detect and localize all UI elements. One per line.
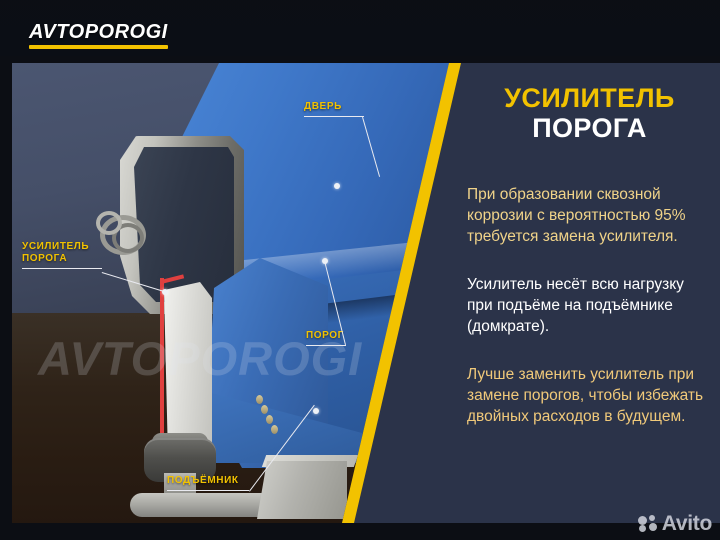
callout-reinforcement-label-line2: ПОРОГА — [22, 253, 102, 265]
sill-reinforcement-part — [164, 282, 212, 457]
content-panel: AVTOPOROGI ДВЕРЬ УСИЛИТЕЛЬ ПОРОГА ПОРОГ … — [12, 63, 720, 523]
avito-wordmark: Avito — [662, 513, 712, 534]
callout-door-rule — [304, 116, 364, 117]
callout-sill: ПОРОГ — [306, 330, 346, 346]
paragraph-advice: Лучше заменить усилитель при замене поро… — [467, 364, 712, 427]
avito-watermark: Avito — [638, 513, 712, 534]
callout-lift: ПОДЪЁМНИК — [167, 475, 249, 491]
weld-dot — [256, 395, 263, 404]
callout-lift-point — [313, 408, 319, 414]
page-title: УСИЛИТЕЛЬ ПОРОГА — [467, 83, 712, 143]
paragraph-load: Усилитель несёт всю нагрузку при подъёме… — [467, 274, 712, 337]
paragraph-corrosion: При образовании сквозной коррозии с веро… — [467, 184, 712, 247]
brand-logo-text: AVTOPOROGI — [29, 22, 168, 42]
page-title-line1: УСИЛИТЕЛЬ — [467, 83, 712, 113]
avito-logo-icon — [638, 515, 658, 532]
callout-lift-rule — [167, 490, 249, 491]
callout-lift-label: ПОДЪЁМНИК — [167, 475, 249, 487]
page-title-line2: ПОРОГА — [467, 113, 712, 143]
brand-logo: AVTOPOROGI — [29, 22, 168, 49]
jack-block — [257, 461, 347, 519]
callout-door: ДВЕРЬ — [304, 101, 364, 117]
seal-clip-small-icon — [96, 211, 122, 235]
callout-reinforcement-point — [162, 289, 168, 295]
callout-sill-label: ПОРОГ — [306, 330, 346, 342]
callout-door-point — [334, 183, 340, 189]
callout-door-label: ДВЕРЬ — [304, 101, 364, 113]
callout-reinforcement: УСИЛИТЕЛЬ ПОРОГА — [22, 241, 102, 269]
callout-sill-rule — [306, 345, 346, 346]
weld-dot — [261, 405, 268, 414]
callout-reinforcement-rule — [22, 268, 102, 269]
weld-dot — [266, 415, 273, 424]
listing-image: AVTOPOROGI — [0, 0, 720, 540]
brand-logo-underline — [29, 45, 168, 49]
weld-dot — [271, 425, 278, 434]
door-seal-inner — [134, 147, 234, 307]
callout-reinforcement-label-line1: УСИЛИТЕЛЬ — [22, 241, 102, 253]
info-column: УСИЛИТЕЛЬ ПОРОГА При образовании сквозно… — [467, 83, 712, 427]
callout-sill-point — [322, 258, 328, 264]
